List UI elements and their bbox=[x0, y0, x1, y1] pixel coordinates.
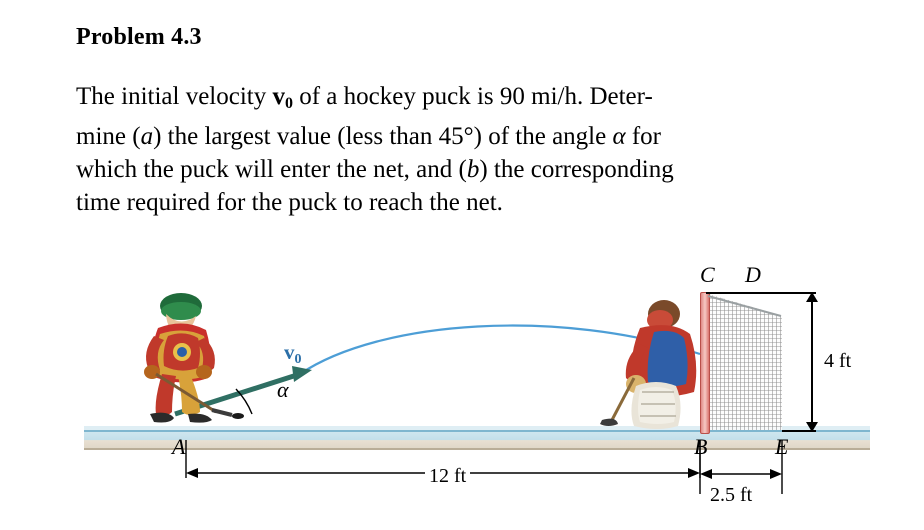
part-a-marker: a bbox=[141, 123, 154, 150]
velocity-subscript: 0 bbox=[285, 95, 293, 112]
statement-line-2-part-c: for bbox=[626, 123, 661, 150]
statement-line-1-part-a: The initial velocity bbox=[76, 83, 272, 110]
page-title: Problem 4.3 bbox=[76, 24, 202, 51]
statement-line-2: mine (a) the largest value (less than 45… bbox=[76, 120, 866, 153]
statement-line-2-part-a: mine ( bbox=[76, 123, 141, 150]
label-v0-symbol: v bbox=[284, 340, 295, 364]
dimension-4ft-line bbox=[811, 292, 813, 432]
statement-line-3: which the puck will enter the net, and (… bbox=[76, 153, 866, 186]
alpha-symbol-inline: α bbox=[612, 123, 625, 150]
label-initial-velocity: v0 bbox=[284, 340, 302, 368]
label-point-c: C bbox=[700, 262, 715, 288]
top-reference-line bbox=[706, 292, 816, 294]
problem-statement: The initial velocity v0 of a hockey puck… bbox=[76, 80, 866, 219]
part-b-marker: b bbox=[467, 156, 480, 183]
statement-line-3-part-a: which the puck will enter the net, and ( bbox=[76, 156, 467, 183]
label-angle-alpha: α bbox=[277, 377, 289, 403]
label-point-d: D bbox=[745, 262, 761, 288]
label-2point5ft: 2.5 ft bbox=[707, 484, 755, 507]
player-goalie bbox=[600, 300, 696, 429]
label-12ft: 12 ft bbox=[425, 465, 470, 488]
dimension-4ft-arrow-down bbox=[806, 422, 818, 432]
label-v0-subscript: 0 bbox=[295, 352, 302, 367]
figure-overlay bbox=[0, 262, 924, 530]
statement-line-1: The initial velocity v0 of a hockey puck… bbox=[76, 80, 866, 120]
label-point-e: E bbox=[775, 434, 788, 460]
statement-line-4: time required for the puck to reach the … bbox=[76, 186, 866, 219]
label-point-a: A bbox=[172, 434, 185, 460]
label-4ft: 4 ft bbox=[824, 350, 851, 373]
dimension-4ft-arrow-up bbox=[806, 292, 818, 302]
figure-hockey-diagram: 4 ft C D A B E 12 ft 2.5 ft v0 α bbox=[0, 262, 924, 530]
player-left-skater bbox=[144, 293, 244, 423]
statement-line-2-part-b: ) the largest value (less than 45°) of t… bbox=[153, 123, 612, 150]
velocity-symbol: v bbox=[272, 83, 285, 110]
label-point-b: B bbox=[694, 434, 707, 460]
statement-line-1-part-b: of a hockey puck is 90 mi/h. Deter- bbox=[293, 83, 653, 110]
problem-page: Problem 4.3 The initial velocity v0 of a… bbox=[0, 0, 924, 530]
statement-line-3-part-b: ) the corresponding bbox=[479, 156, 673, 183]
